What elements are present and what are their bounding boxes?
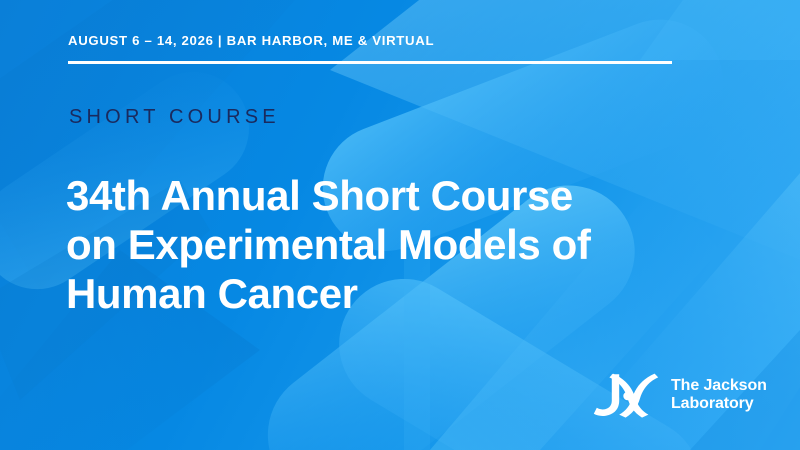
event-details-block: AUGUST 6 – 14, 2026 | BAR HARBOR, ME & V… (68, 34, 672, 64)
headline-line-1: 34th Annual Short Course (66, 171, 706, 220)
divider-rule (68, 61, 672, 64)
jax-logo[interactable]: The Jackson Laboratory (583, 371, 767, 419)
page-title: 34th Annual Short Course on Experimental… (66, 171, 706, 318)
wordmark-line-1: The Jackson (671, 377, 767, 395)
headline-line-3: Human Cancer (66, 269, 706, 318)
category-kicker: SHORT COURSE (69, 107, 280, 127)
event-date-location: AUGUST 6 – 14, 2026 | BAR HARBOR, ME & V… (68, 34, 672, 49)
wordmark-line-2: Laboratory (671, 395, 767, 413)
banner-content: AUGUST 6 – 14, 2026 | BAR HARBOR, ME & V… (0, 0, 800, 450)
jax-wordmark: The Jackson Laboratory (671, 377, 767, 413)
event-banner: AUGUST 6 – 14, 2026 | BAR HARBOR, ME & V… (0, 0, 800, 450)
jax-dna-helix-icon (583, 371, 661, 419)
headline-line-2: on Experimental Models of (66, 220, 706, 269)
